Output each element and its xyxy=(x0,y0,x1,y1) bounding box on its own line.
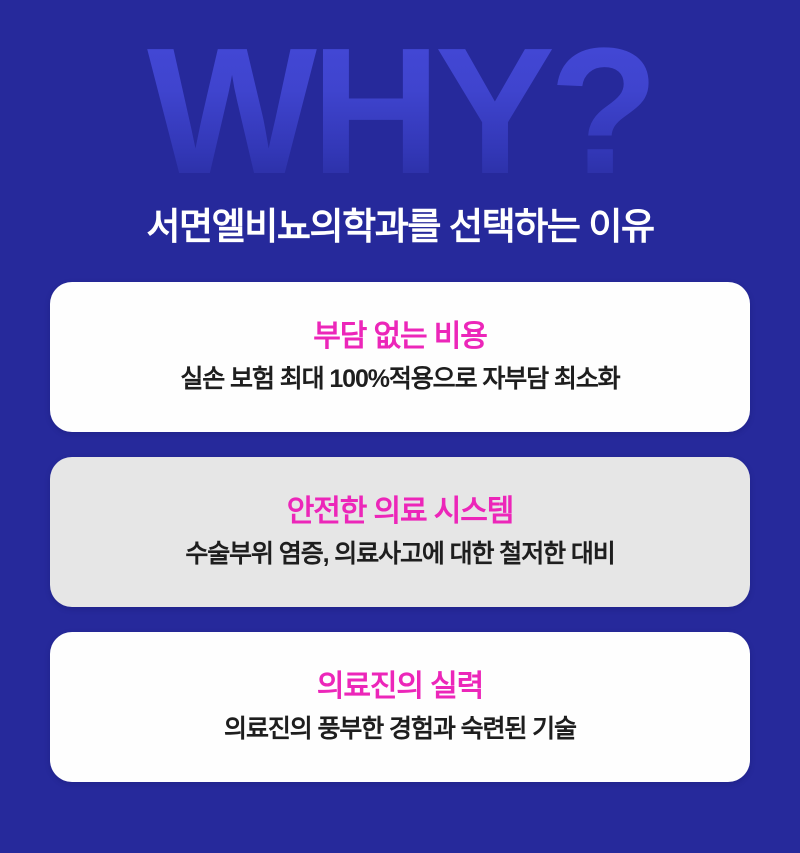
watermark-container: WHY? xyxy=(0,0,800,300)
benefit-card: 부담 없는 비용 실손 보험 최대 100%적용으로 자부담 최소화 xyxy=(50,282,750,432)
benefit-card-title: 안전한 의료 시스템 xyxy=(287,494,513,530)
benefit-card-description: 의료진의 풍부한 경험과 숙련된 기술 xyxy=(224,714,576,745)
benefit-card-list: 부담 없는 비용 실손 보험 최대 100%적용으로 자부담 최소화 안전한 의… xyxy=(50,282,750,782)
benefit-card: 의료진의 실력 의료진의 풍부한 경험과 숙련된 기술 xyxy=(50,632,750,782)
benefit-card-description: 수술부위 염증, 의료사고에 대한 철저한 대비 xyxy=(185,539,614,570)
benefit-card: 안전한 의료 시스템 수술부위 염증, 의료사고에 대한 철저한 대비 xyxy=(50,457,750,607)
benefit-card-description: 실손 보험 최대 100%적용으로 자부담 최소화 xyxy=(180,364,619,395)
benefit-card-title: 의료진의 실력 xyxy=(317,669,483,705)
page-title: 서면엘비뇨의학과를 선택하는 이유 xyxy=(0,203,800,251)
why-choose-us-section: WHY? 서면엘비뇨의학과를 선택하는 이유 부담 없는 비용 실손 보험 최대… xyxy=(0,0,800,853)
benefit-card-title: 부담 없는 비용 xyxy=(313,319,486,355)
why-watermark-text: WHY? xyxy=(147,22,653,202)
